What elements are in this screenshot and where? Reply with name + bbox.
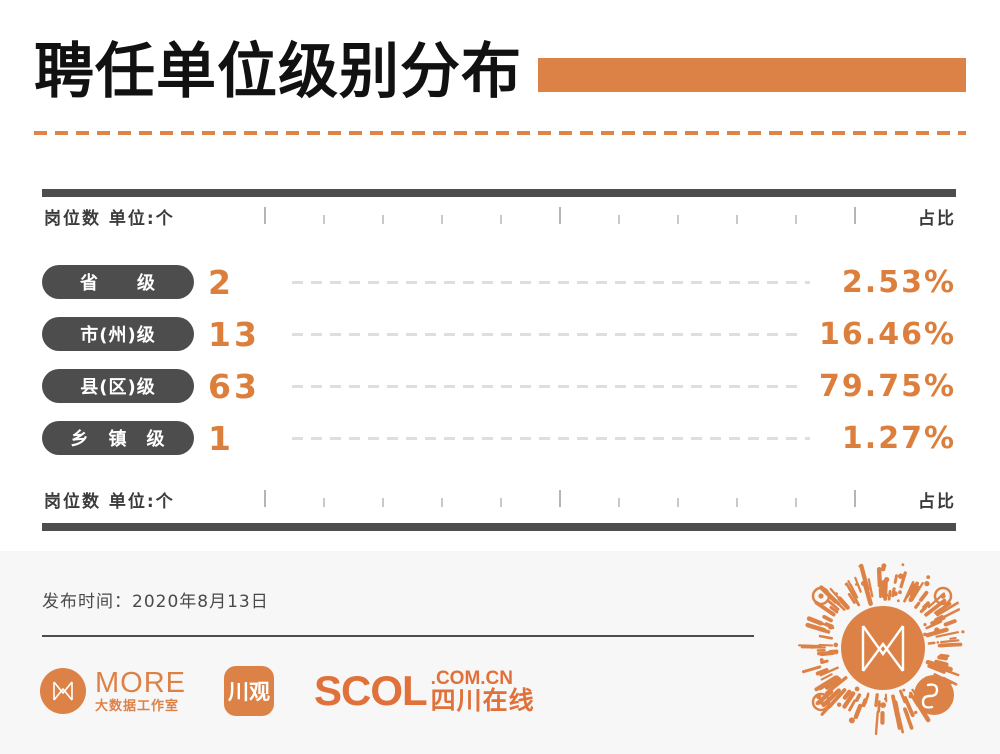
row-label-pill: 市(州)级 [42, 317, 194, 351]
title-section: 聘任单位级别分布 [0, 0, 1000, 140]
axis-label-left-bottom: 岗位数 单位:个 [44, 487, 175, 512]
wechat-miniprogram-qr-icon[interactable] [788, 556, 978, 746]
axis-tick-minor [618, 498, 620, 507]
title-row: 聘任单位级别分布 [34, 36, 966, 108]
axis-tick-major [264, 490, 266, 507]
more-monogram-icon [40, 668, 86, 714]
more-logo: MORE 大数据工作室 [40, 668, 186, 714]
axis-tick-minor [677, 498, 679, 507]
scol-logo-right: .COM.CN 四川在线 [431, 669, 535, 713]
bottom-rule-bar [42, 523, 956, 531]
axis-tick-major [854, 207, 856, 224]
row-label-pill: 县(区)级 [42, 369, 194, 403]
axis-ticks-top [264, 202, 854, 228]
scol-wordmark: SCOL [314, 670, 427, 712]
scol-logo: SCOL .COM.CN 四川在线 [314, 669, 535, 713]
row-leader-line [292, 385, 805, 388]
axis-tick-minor [736, 498, 738, 507]
infographic-page: 聘任单位级别分布 岗位数 单位:个 占比 省 级 2 2.53% 市(州)级 1… [0, 0, 1000, 754]
axis-tick-minor [736, 215, 738, 224]
footer-section: 发布时间：2020年8月13日 MORE 大数据工作室 川观 SCOL [0, 551, 1000, 754]
footer-divider [42, 635, 754, 637]
publish-time: 发布时间：2020年8月13日 [42, 587, 269, 612]
axis-tick-minor [382, 215, 384, 224]
axis-tick-minor [441, 498, 443, 507]
axis-tick-minor [500, 215, 502, 224]
row-count: 13 [208, 315, 278, 354]
axis-tick-minor [382, 498, 384, 507]
row-leader-line [292, 333, 805, 336]
axis-tick-major [559, 207, 561, 224]
row-percent: 1.27% [824, 421, 956, 456]
axis-label-right-bottom: 占比 [918, 487, 956, 512]
scol-chinese-name: 四川在线 [431, 686, 535, 715]
row-percent: 79.75% [819, 369, 956, 404]
axis-tick-minor [323, 498, 325, 507]
table-row: 省 级 2 2.53% [42, 256, 956, 308]
page-title: 聘任单位级别分布 [34, 36, 522, 108]
top-rule-bar [42, 189, 956, 197]
axis-header-bottom: 岗位数 单位:个 占比 [42, 485, 956, 515]
axis-tick-minor [618, 215, 620, 224]
axis-label-left-top: 岗位数 单位:个 [44, 204, 175, 229]
more-subtitle: 大数据工作室 [95, 700, 186, 713]
axis-tick-minor [500, 498, 502, 507]
axis-tick-minor [677, 215, 679, 224]
row-label-pill: 乡 镇 级 [42, 421, 194, 455]
axis-tick-major [854, 490, 856, 507]
row-count: 2 [208, 263, 278, 302]
chuanguan-wordmark: 川观 [228, 676, 270, 706]
row-count: 1 [208, 419, 278, 458]
more-wordmark: MORE [95, 669, 186, 698]
title-dashed-divider [34, 131, 966, 135]
chuanguan-logo: 川观 [224, 666, 274, 716]
axis-tick-minor [323, 215, 325, 224]
chart-section: 岗位数 单位:个 占比 省 级 2 2.53% 市(州)级 13 16.46% … [0, 178, 1000, 528]
row-label-pill: 省 级 [42, 265, 194, 299]
row-leader-line [292, 437, 810, 440]
row-count: 63 [208, 367, 278, 406]
axis-tick-major [559, 490, 561, 507]
table-row: 县(区)级 63 79.75% [42, 360, 956, 412]
logo-strip: MORE 大数据工作室 川观 SCOL .COM.CN 四川在线 [40, 661, 535, 721]
data-rows: 省 级 2 2.53% 市(州)级 13 16.46% 县(区)级 63 79.… [42, 256, 956, 464]
row-percent: 2.53% [824, 265, 956, 300]
axis-tick-minor [795, 215, 797, 224]
axis-tick-major [264, 207, 266, 224]
axis-ticks-bottom [264, 485, 854, 511]
axis-header-top: 岗位数 单位:个 占比 [42, 202, 956, 232]
axis-label-right-top: 占比 [918, 204, 956, 229]
table-row: 市(州)级 13 16.46% [42, 308, 956, 360]
title-accent-bar [538, 58, 966, 92]
row-percent: 16.46% [819, 317, 956, 352]
table-row: 乡 镇 级 1 1.27% [42, 412, 956, 464]
axis-tick-minor [795, 498, 797, 507]
row-leader-line [292, 281, 810, 284]
axis-tick-minor [441, 215, 443, 224]
more-logo-text: MORE 大数据工作室 [95, 669, 186, 713]
